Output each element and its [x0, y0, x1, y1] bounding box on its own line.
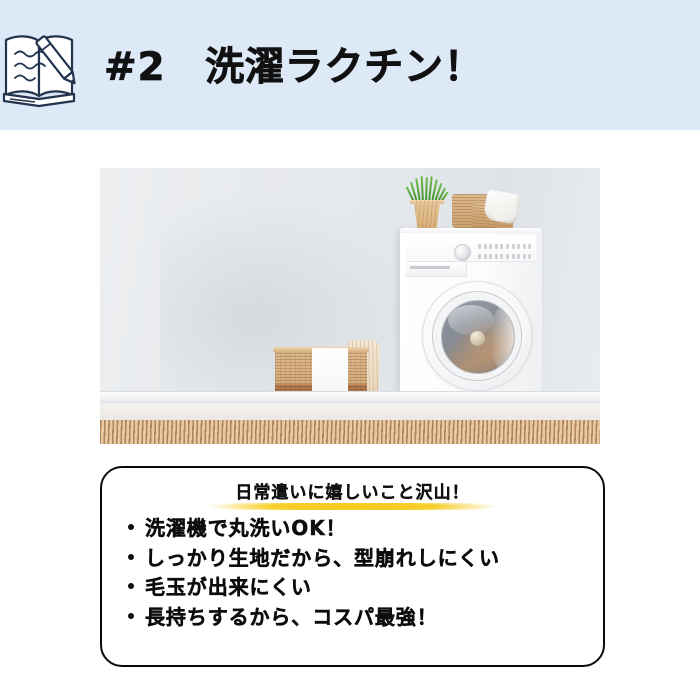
washer-button-line-bottom — [478, 254, 536, 259]
white-towel-on-washer-fold — [491, 198, 517, 222]
washer-control-panel — [406, 235, 536, 262]
header-band: #2 洗濯ラクチン！ — [0, 0, 700, 130]
washer-door-ring — [432, 291, 522, 381]
list-item-label: 洗濯機で丸洗いOK！ — [145, 518, 347, 540]
list-item: 毛玉が出来にくい — [128, 577, 593, 599]
washer-program-dial — [454, 244, 471, 261]
washer-top-surface — [400, 228, 542, 233]
washer-door — [422, 281, 532, 391]
benefits-heading-text: 日常遣いに嬉しいこと沢山！ — [235, 483, 469, 503]
washer-button-line-top — [478, 244, 536, 249]
bullet-dot-icon — [128, 524, 134, 530]
photo-scene — [100, 168, 600, 444]
yellow-underline-marker — [207, 503, 497, 510]
washer-door-glass — [441, 300, 515, 374]
striped-woven-rug — [100, 420, 600, 444]
detergent-drawer — [406, 261, 467, 277]
bullet-dot-icon — [128, 554, 134, 560]
bullet-dot-icon — [128, 613, 134, 619]
washer-glass-highlight — [448, 305, 494, 335]
washer-button-row — [478, 244, 536, 259]
bullet-dot-icon — [128, 583, 134, 589]
list-item-label: しっかり生地だから、型崩れしにくい — [145, 548, 500, 570]
benefits-list: 洗濯機で丸洗いOK！ しっかり生地だから、型崩れしにくい 毛玉が出来にくい 長持… — [128, 518, 593, 636]
detergent-drawer-handle — [410, 266, 450, 269]
washer-glass-crescent — [490, 307, 515, 369]
list-item: 長持ちするから、コスパ最強！ — [128, 607, 593, 629]
list-item-label: 毛玉が出来にくい — [145, 577, 312, 599]
benefits-heading-wrap: 日常遣いに嬉しいこと沢山！ — [102, 478, 603, 507]
potted-grass-plant-leaves — [411, 176, 443, 202]
benefits-heading: 日常遣いに嬉しいこと沢山！ — [229, 478, 475, 507]
page-title: #2 洗濯ラクチン！ — [104, 36, 484, 92]
list-item: しっかり生地だから、型崩れしにくい — [128, 548, 593, 570]
list-item: 洗濯機で丸洗いOK！ — [128, 518, 593, 540]
benefits-box: 日常遣いに嬉しいこと沢山！ 洗濯機で丸洗いOK！ しっかり生地だから、型崩れしに… — [100, 466, 605, 667]
laundry-room-photo — [100, 168, 600, 444]
notebook-pencil-icon — [2, 22, 80, 108]
list-item-label: 長持ちするから、コスパ最強！ — [145, 607, 438, 629]
